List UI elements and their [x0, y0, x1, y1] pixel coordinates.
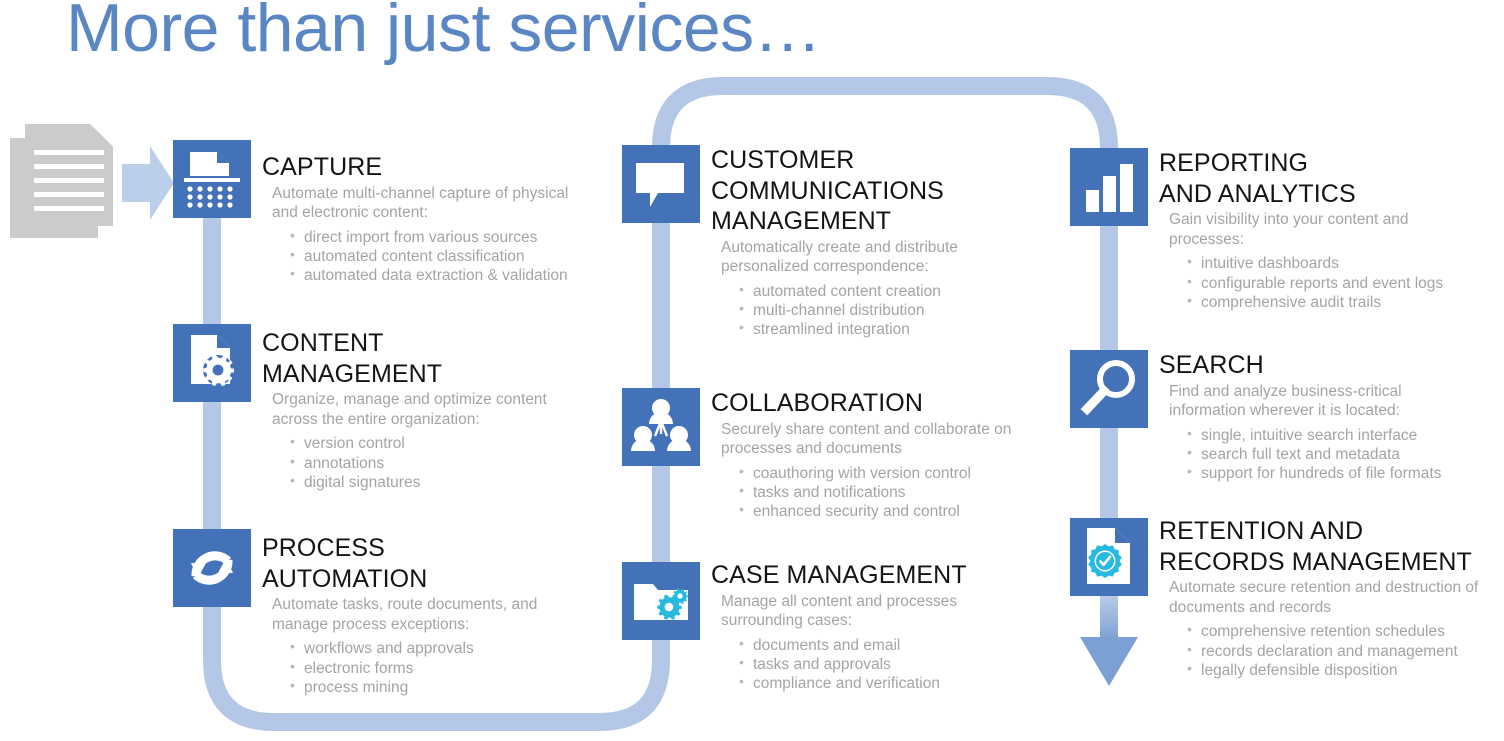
list-item: enhanced security and control [739, 502, 1061, 521]
item-bullets: comprehensive retention schedules record… [1159, 622, 1504, 680]
bar-chart-icon [1070, 148, 1148, 226]
item-bullets: documents and email tasks and approvals … [711, 636, 1061, 694]
list-item: intuitive dashboards [1187, 254, 1504, 273]
document-certified-icon [1070, 518, 1148, 596]
doc-line [34, 206, 104, 211]
list-item: comprehensive retention schedules [1187, 622, 1504, 641]
item-bullets: workflows and approvals electronic forms… [262, 639, 582, 697]
three-people-icon [622, 388, 700, 466]
item-heading: RETENTION AND RECORDS MANAGEMENT [1159, 516, 1504, 577]
item-bullets: coauthoring with version control tasks a… [711, 464, 1061, 522]
document-gear-icon [173, 324, 251, 402]
doc-line [34, 150, 104, 155]
list-item: search full text and metadata [1187, 445, 1504, 464]
list-item: tasks and approvals [739, 655, 1061, 674]
item-bullets: direct import from various sources autom… [262, 228, 582, 286]
item-heading: COLLABORATION [711, 388, 1061, 419]
page-title: More than just services… [66, 0, 821, 62]
doc-line [34, 192, 104, 197]
item-bullets: intuitive dashboards configurable report… [1159, 254, 1504, 312]
list-item: direct import from various sources [290, 228, 582, 247]
list-item: workflows and approvals [290, 639, 582, 658]
item-heading: CASE MANAGEMENT [711, 560, 1061, 591]
item-bullets: automated content creation multi-channel… [711, 282, 1041, 340]
list-item: coauthoring with version control [739, 464, 1061, 483]
item-bullets: version control annotations digital sign… [262, 434, 582, 492]
item-heading: CONTENT MANAGEMENT [262, 328, 582, 389]
item-lead: Find and analyze business-critical infor… [1159, 382, 1504, 421]
item-bullets: single, intuitive search interface searc… [1159, 426, 1504, 484]
slide-canvas: More than just services… [0, 0, 1504, 741]
list-item: multi-channel distribution [739, 301, 1041, 320]
document-stack-icon [10, 124, 125, 242]
item-lead: Manage all content and processes surroun… [711, 592, 1061, 631]
list-item: single, intuitive search interface [1187, 426, 1504, 445]
list-item: compliance and verification [739, 674, 1061, 693]
item-heading: CUSTOMER COMMUNICATIONS MANAGEMENT [711, 145, 1041, 237]
list-item: automated content creation [739, 282, 1041, 301]
doc-line [34, 164, 104, 169]
circular-arrows-icon [173, 529, 251, 607]
list-item: comprehensive audit trails [1187, 293, 1504, 312]
list-item: automated data extraction & validation [290, 266, 582, 285]
intake-arrow-icon [122, 146, 174, 220]
item-lead: Securely share content and collaborate o… [711, 420, 1061, 459]
list-item: tasks and notifications [739, 483, 1061, 502]
item-lead: Automate multi-channel capture of physic… [262, 184, 582, 223]
item-lead: Automate tasks, route documents, and man… [262, 595, 582, 634]
item-lead: Gain visibility into your content and pr… [1159, 210, 1504, 249]
folder-gears-icon [622, 562, 700, 640]
item-lead: Organize, manage and optimize content ac… [262, 390, 582, 429]
list-item: documents and email [739, 636, 1061, 655]
list-item: electronic forms [290, 659, 582, 678]
list-item: configurable reports and event logs [1187, 274, 1504, 293]
list-item: version control [290, 434, 582, 453]
item-heading: CAPTURE [262, 152, 582, 183]
list-item: digital signatures [290, 473, 582, 492]
list-item: streamlined integration [739, 320, 1041, 339]
list-item: legally defensible disposition [1187, 661, 1504, 680]
item-heading: REPORTING AND ANALYTICS [1159, 148, 1504, 209]
item-heading: SEARCH [1159, 350, 1504, 381]
list-item: records declaration and management [1187, 642, 1504, 661]
list-item: support for hundreds of file formats [1187, 464, 1504, 483]
magnifier-icon [1070, 350, 1148, 428]
scanner-capture-icon [173, 140, 251, 218]
item-heading: PROCESS AUTOMATION [262, 533, 582, 594]
list-item: automated content classification [290, 247, 582, 266]
list-item: process mining [290, 678, 582, 697]
list-item: annotations [290, 454, 582, 473]
doc-line [34, 178, 104, 183]
item-lead: Automatically create and distribute pers… [711, 238, 1041, 277]
item-lead: Automate secure retention and destructio… [1159, 578, 1504, 617]
speech-bubble-icon [622, 145, 700, 223]
